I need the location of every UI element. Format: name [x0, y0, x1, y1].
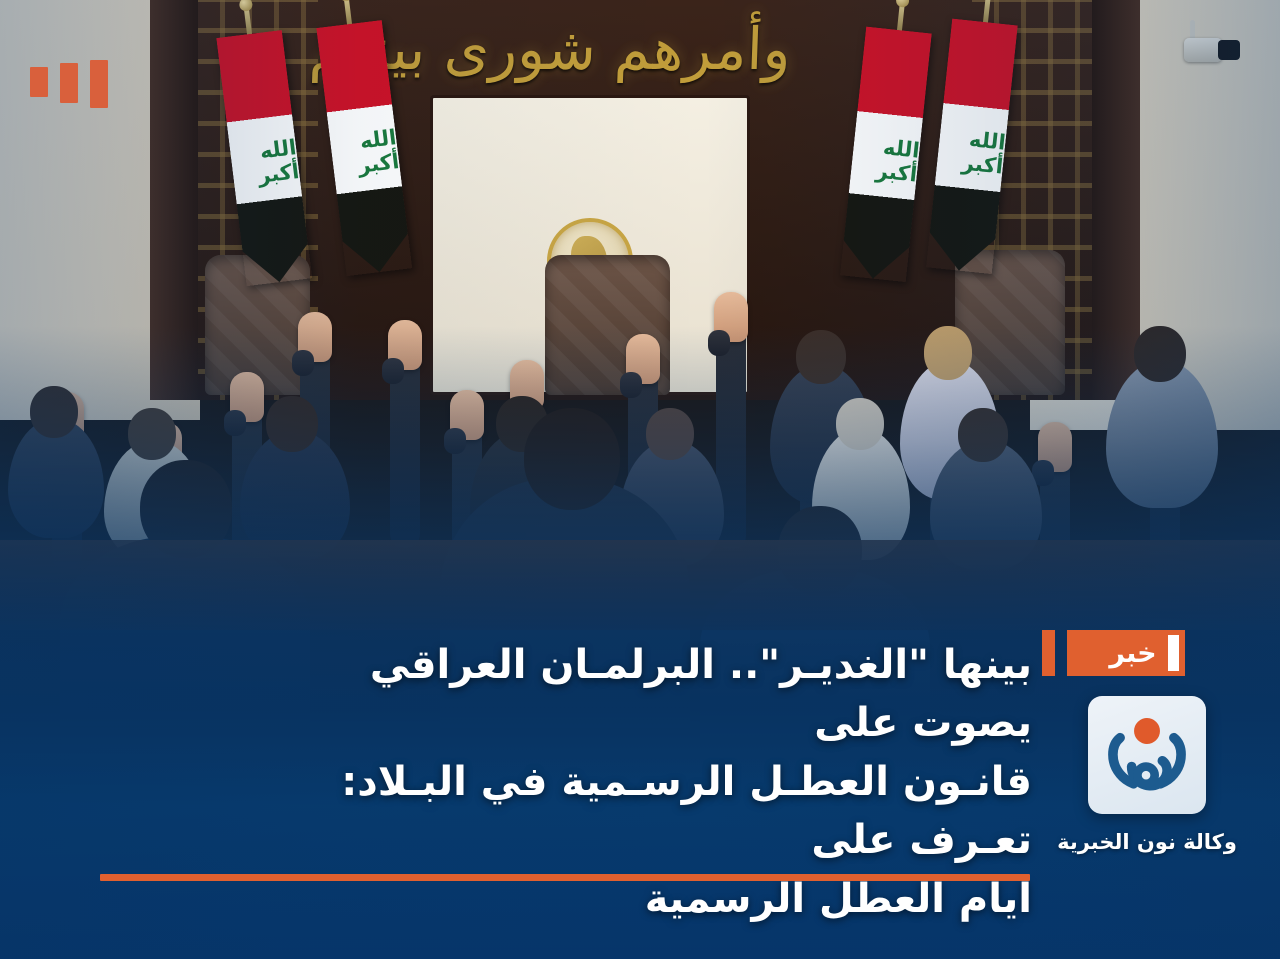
badge-white-tick	[1168, 635, 1179, 671]
headline: بينها "الغديـر".. البرلمـان العراقي يصوت…	[312, 636, 1032, 928]
noon-agency-logo	[1088, 696, 1206, 814]
bar-1	[90, 60, 108, 108]
news-badge-label: خبر	[1095, 640, 1156, 667]
brand-column: خبر وكالة نون الخبرية	[1042, 630, 1252, 854]
headline-underline-rule	[100, 874, 1030, 881]
news-badge: خبر	[1067, 630, 1185, 676]
bar-3	[30, 67, 48, 97]
badge-orange-tick	[1042, 630, 1055, 676]
headline-line-1: بينها "الغديـر".. البرلمـان العراقي يصوت…	[312, 636, 1032, 753]
bar-2	[60, 63, 78, 103]
three-bars-mark-icon	[30, 58, 108, 108]
news-badge-row: خبر	[1042, 630, 1252, 676]
news-card: وأمرهم شورى بينهم الله أكبر الله أكبر ال…	[0, 0, 1280, 959]
headline-line-2: قانـون العطـل الرسـمية في البـلاد: تعـرف…	[312, 753, 1032, 870]
agency-name: وكالة نون الخبرية	[1042, 830, 1252, 854]
